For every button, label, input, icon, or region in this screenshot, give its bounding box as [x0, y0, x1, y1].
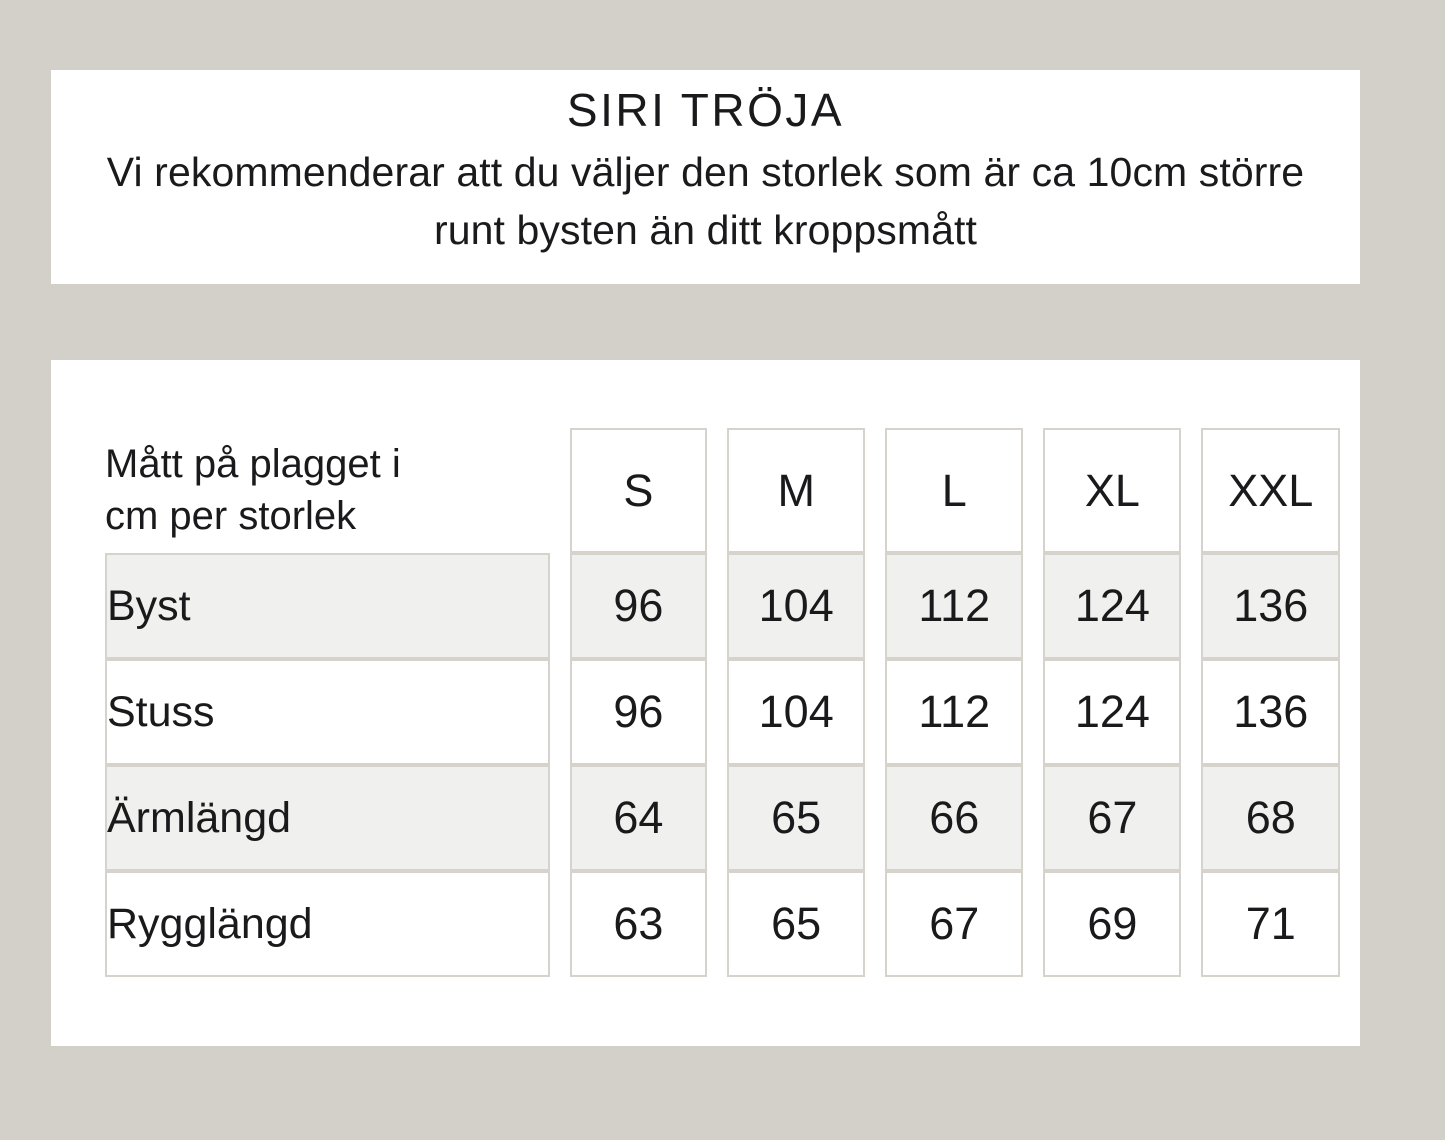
- cell-armlangd-m: 65: [727, 765, 865, 871]
- cell-armlangd-s: 64: [570, 765, 707, 871]
- cell-byst-xl: 124: [1043, 553, 1181, 659]
- cell-stuss-xxl: 136: [1201, 659, 1340, 765]
- recommendation-text: Vi rekommenderar att du väljer den storl…: [81, 143, 1331, 259]
- cell-rygglangd-m: 65: [727, 871, 865, 977]
- cell-rygglangd-s: 63: [570, 871, 707, 977]
- size-chart-table: Mått på plagget i cm per storlek S M L X…: [85, 428, 1360, 977]
- table-row: Byst 96 104 112 124 136: [105, 553, 1340, 659]
- row-label-armlangd: Ärmlängd: [105, 765, 550, 871]
- cell-armlangd-l: 66: [885, 765, 1023, 871]
- header-card: SIRI TRÖJA Vi rekommenderar att du välje…: [51, 70, 1360, 284]
- cell-byst-l: 112: [885, 553, 1023, 659]
- cell-armlangd-xxl: 68: [1201, 765, 1340, 871]
- cell-stuss-l: 112: [885, 659, 1023, 765]
- table-body: Byst 96 104 112 124 136 Stuss 96 104 112…: [105, 553, 1340, 977]
- size-header-l: L: [885, 428, 1023, 553]
- size-table-card: Mått på plagget i cm per storlek S M L X…: [51, 360, 1360, 1046]
- cell-byst-xxl: 136: [1201, 553, 1340, 659]
- cell-byst-m: 104: [727, 553, 865, 659]
- size-header-m: M: [727, 428, 865, 553]
- table-header: Mått på plagget i cm per storlek S M L X…: [105, 428, 1340, 553]
- table-row: Rygglängd 63 65 67 69 71: [105, 871, 1340, 977]
- row-label-byst: Byst: [105, 553, 550, 659]
- recommendation-line-1: Vi rekommenderar att du väljer den storl…: [107, 149, 1075, 195]
- size-header-xl: XL: [1043, 428, 1181, 553]
- row-label-stuss: Stuss: [105, 659, 550, 765]
- cell-stuss-s: 96: [570, 659, 707, 765]
- size-header-xxl: XXL: [1201, 428, 1340, 553]
- table-header-row: Mått på plagget i cm per storlek S M L X…: [105, 428, 1340, 553]
- cell-rygglangd-xl: 69: [1043, 871, 1181, 977]
- cell-rygglangd-l: 67: [885, 871, 1023, 977]
- cell-stuss-m: 104: [727, 659, 865, 765]
- table-row: Stuss 96 104 112 124 136: [105, 659, 1340, 765]
- size-header-s: S: [570, 428, 707, 553]
- cell-armlangd-xl: 67: [1043, 765, 1181, 871]
- cell-stuss-xl: 124: [1043, 659, 1181, 765]
- cell-rygglangd-xxl: 71: [1201, 871, 1340, 977]
- corner-label-line-1: Mått på plagget i: [105, 439, 550, 490]
- row-label-rygglangd: Rygglängd: [105, 871, 550, 977]
- page-title: SIRI TRÖJA: [567, 84, 844, 137]
- cell-byst-s: 96: [570, 553, 707, 659]
- table-row: Ärmlängd 64 65 66 67 68: [105, 765, 1340, 871]
- corner-label-line-2: cm per storlek: [105, 491, 550, 542]
- measurement-column-header: Mått på plagget i cm per storlek: [105, 428, 550, 553]
- size-guide-page: SIRI TRÖJA Vi rekommenderar att du välje…: [0, 0, 1445, 1140]
